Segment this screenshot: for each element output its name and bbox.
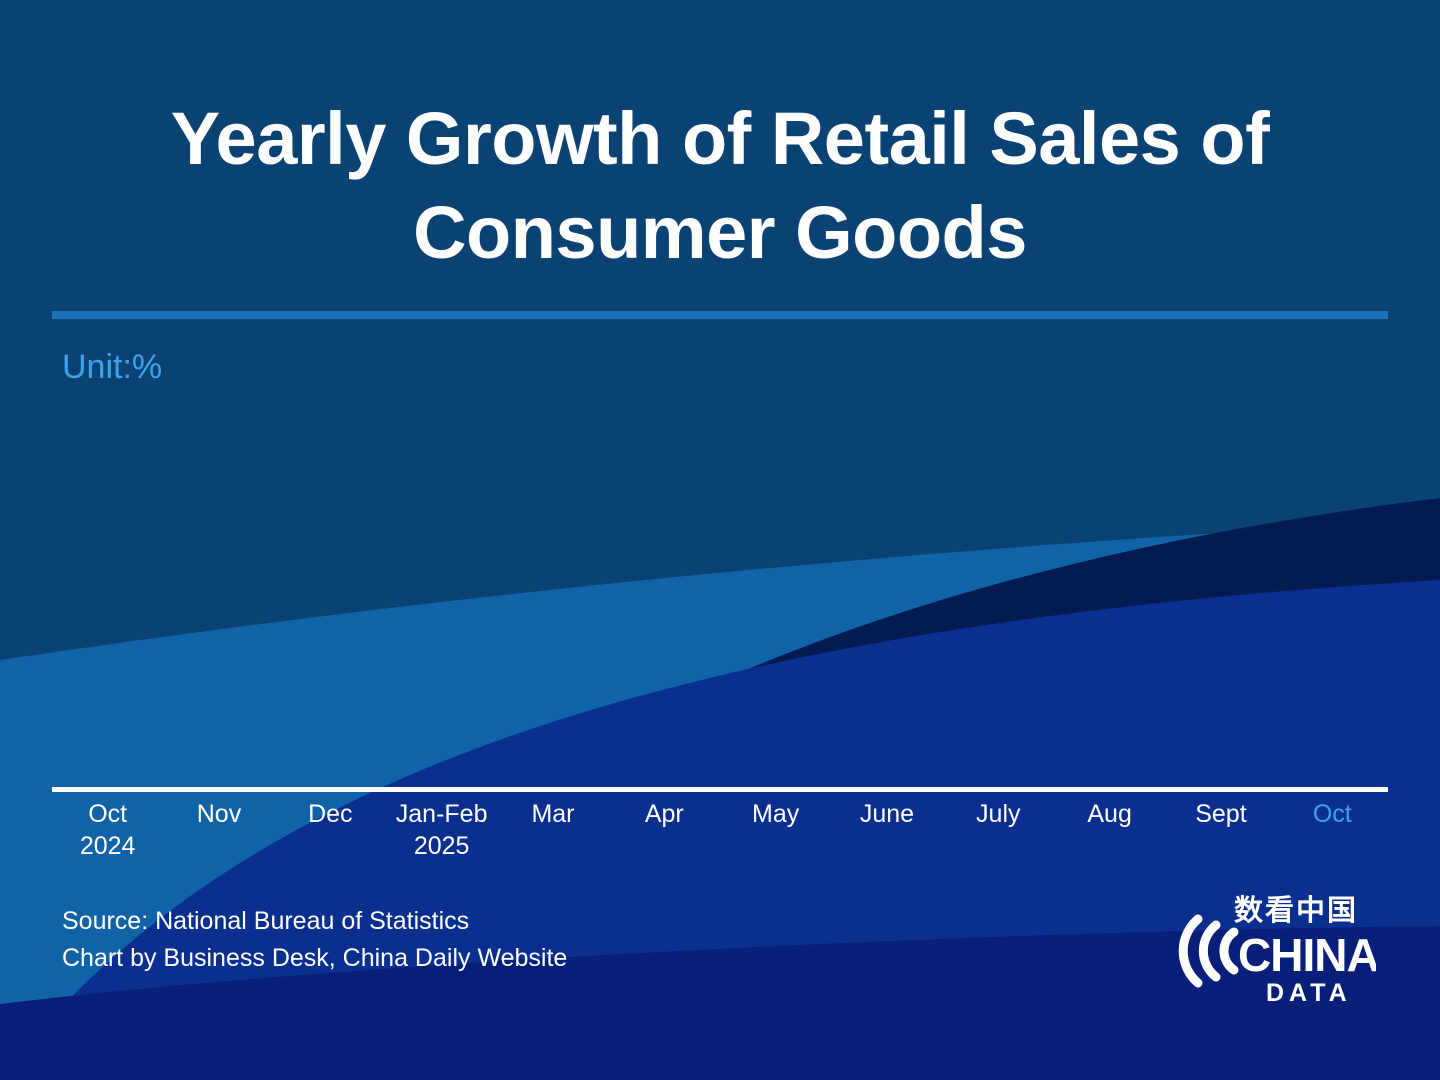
source-attribution: Source: National Bureau of Statistics Ch… [62, 903, 567, 977]
infographic-slide: Yearly Growth of Retail Sales of Consume… [0, 0, 1440, 1080]
logo-chinese-name: 数看中国 [1234, 894, 1358, 926]
page-title: Yearly Growth of Retail Sales of Consume… [0, 92, 1440, 280]
x-axis-tick: Nov [163, 798, 274, 874]
x-axis-tick: Apr [609, 798, 720, 874]
x-axis-tick: June [831, 798, 942, 874]
source-line-2: Chart by Business Desk, China Daily Webs… [62, 940, 567, 977]
title-line-2: Consumer Goods [0, 186, 1440, 280]
logo-data-text: DATA [1266, 979, 1352, 1005]
x-axis-line [52, 787, 1388, 792]
x-axis-labels: Oct 2024 Nov Dec Jan-Feb 2025 Mar Apr Ma… [52, 798, 1388, 874]
chart-plot-area [52, 400, 1388, 786]
x-axis-tick: May [720, 798, 831, 874]
title-divider [52, 311, 1388, 319]
x-axis-tick-highlighted: Oct [1277, 798, 1388, 874]
title-line-1: Yearly Growth of Retail Sales of [0, 92, 1440, 186]
source-line-1: Source: National Bureau of Statistics [62, 903, 567, 940]
china-data-logo: 数看中国 CHINA DATA [1168, 893, 1376, 1005]
x-axis-tick: Mar [497, 798, 608, 874]
x-axis-tick: Jan-Feb 2025 [386, 798, 497, 874]
x-axis-tick: Oct 2024 [52, 798, 163, 874]
x-axis-tick: July [943, 798, 1054, 874]
concentric-arcs-icon [1183, 919, 1234, 983]
x-axis-tick: Sept [1165, 798, 1276, 874]
unit-label: Unit:% [62, 348, 162, 387]
x-axis-tick: Dec [275, 798, 386, 874]
logo-china-text: CHINA [1238, 929, 1376, 981]
x-axis-tick: Aug [1054, 798, 1165, 874]
